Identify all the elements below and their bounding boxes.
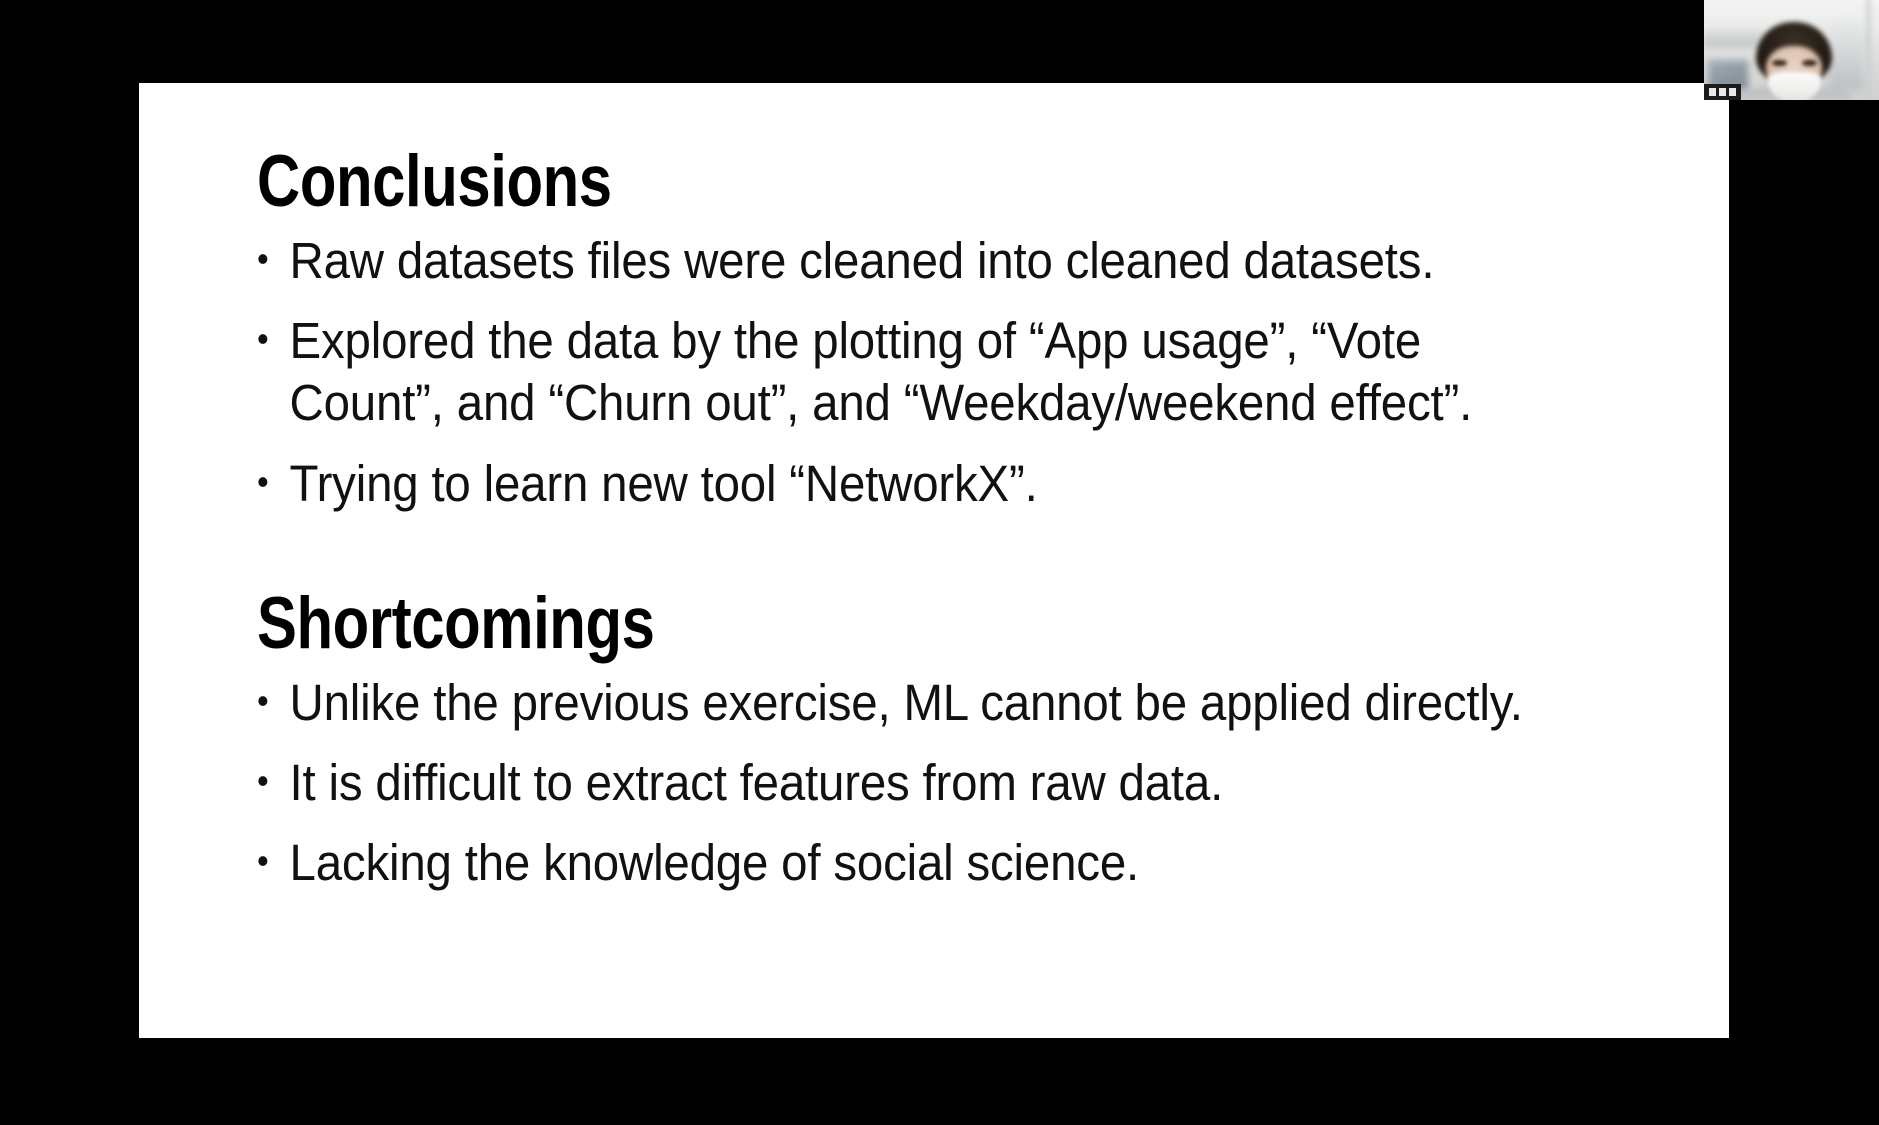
person-face-mask bbox=[1768, 72, 1821, 100]
bullet-marker-icon: • bbox=[257, 453, 269, 511]
webcam-more-options-button[interactable] bbox=[1704, 84, 1741, 100]
slide-section-conclusions: Conclusions • Raw datasets files were cl… bbox=[257, 145, 1669, 515]
section-heading-conclusions: Conclusions bbox=[257, 145, 1415, 218]
bullet-item: • Trying to learn new tool “NetworkX”. bbox=[257, 453, 1570, 515]
more-options-icon bbox=[1709, 88, 1716, 96]
screen-share-stage: Conclusions • Raw datasets files were cl… bbox=[0, 0, 1879, 1125]
more-options-icon bbox=[1729, 88, 1736, 96]
bullet-text: Unlike the previous exercise, ML cannot … bbox=[290, 672, 1571, 734]
slide-section-shortcomings: Shortcomings • Unlike the previous exerc… bbox=[257, 587, 1669, 895]
bullet-marker-icon: • bbox=[257, 752, 269, 810]
bullet-list-conclusions: • Raw datasets files were cleaned into c… bbox=[257, 230, 1669, 515]
bullet-text: It is difficult to extract features from… bbox=[290, 752, 1571, 814]
bullet-text: Lacking the knowledge of social science. bbox=[290, 832, 1571, 894]
webcam-self-view[interactable] bbox=[1704, 0, 1879, 100]
bullet-text: Raw datasets files were cleaned into cle… bbox=[290, 230, 1571, 292]
bullet-item: • Unlike the previous exercise, ML canno… bbox=[257, 672, 1570, 734]
background-pole bbox=[1866, 0, 1871, 100]
bullet-text: Explored the data by the plotting of “Ap… bbox=[290, 310, 1571, 434]
bullet-item: • Raw datasets files were cleaned into c… bbox=[257, 230, 1570, 292]
bullet-item: • Lacking the knowledge of social scienc… bbox=[257, 832, 1570, 894]
presentation-slide: Conclusions • Raw datasets files were cl… bbox=[139, 83, 1729, 1038]
bullet-marker-icon: • bbox=[257, 672, 269, 730]
bullet-text: Trying to learn new tool “NetworkX”. bbox=[290, 453, 1571, 515]
bullet-marker-icon: • bbox=[257, 832, 269, 890]
person-eye-left bbox=[1772, 60, 1787, 66]
bullet-list-shortcomings: • Unlike the previous exercise, ML canno… bbox=[257, 672, 1669, 895]
bullet-marker-icon: • bbox=[257, 310, 269, 368]
person-eye-right bbox=[1802, 60, 1817, 66]
bullet-marker-icon: • bbox=[257, 230, 269, 288]
section-heading-shortcomings: Shortcomings bbox=[257, 587, 1415, 660]
background-shelf bbox=[1704, 30, 1766, 48]
background-object-right bbox=[1829, 22, 1863, 90]
bullet-item: • It is difficult to extract features fr… bbox=[257, 752, 1570, 814]
more-options-icon bbox=[1719, 88, 1726, 96]
bullet-item: • Explored the data by the plotting of “… bbox=[257, 310, 1570, 434]
